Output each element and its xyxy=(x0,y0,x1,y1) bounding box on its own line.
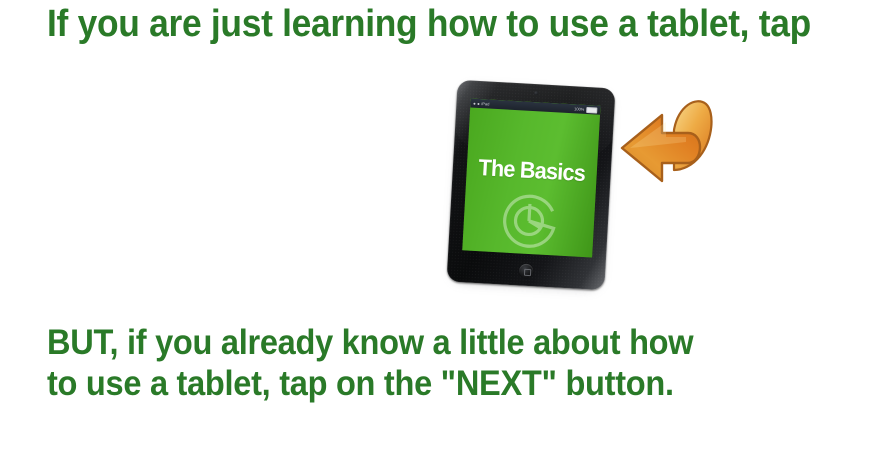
front-camera-icon xyxy=(534,91,538,95)
battery-percent-label: 100% xyxy=(574,107,584,112)
bottom-instruction-text: BUT, if you already know a little about … xyxy=(47,322,693,404)
status-bar-left: iPad xyxy=(473,101,489,106)
slide-canvas: If you are just learning how to use a ta… xyxy=(0,0,882,454)
bottom-instruction-line-2: to use a tablet, tap on the "NEXT" butto… xyxy=(47,363,693,404)
tablet-screen[interactable]: iPad 100% The Basics xyxy=(462,99,600,258)
top-instruction-text: If you are just learning how to use a ta… xyxy=(47,2,811,46)
tablet-illustration[interactable]: iPad 100% The Basics xyxy=(446,80,615,291)
signal-dot-icon xyxy=(477,102,479,104)
tablet-bezel: iPad 100% The Basics xyxy=(446,80,615,291)
battery-icon xyxy=(586,106,597,113)
home-button[interactable] xyxy=(519,263,534,278)
circular-g-clock-logo-icon xyxy=(494,188,563,254)
signal-dot-icon xyxy=(473,102,475,104)
carrier-label: iPad xyxy=(481,102,489,106)
curved-left-arrow-icon xyxy=(616,92,720,194)
home-square-icon xyxy=(523,268,530,275)
status-bar-right: 100% xyxy=(574,106,598,113)
bottom-instruction-line-1: BUT, if you already know a little about … xyxy=(47,322,693,363)
